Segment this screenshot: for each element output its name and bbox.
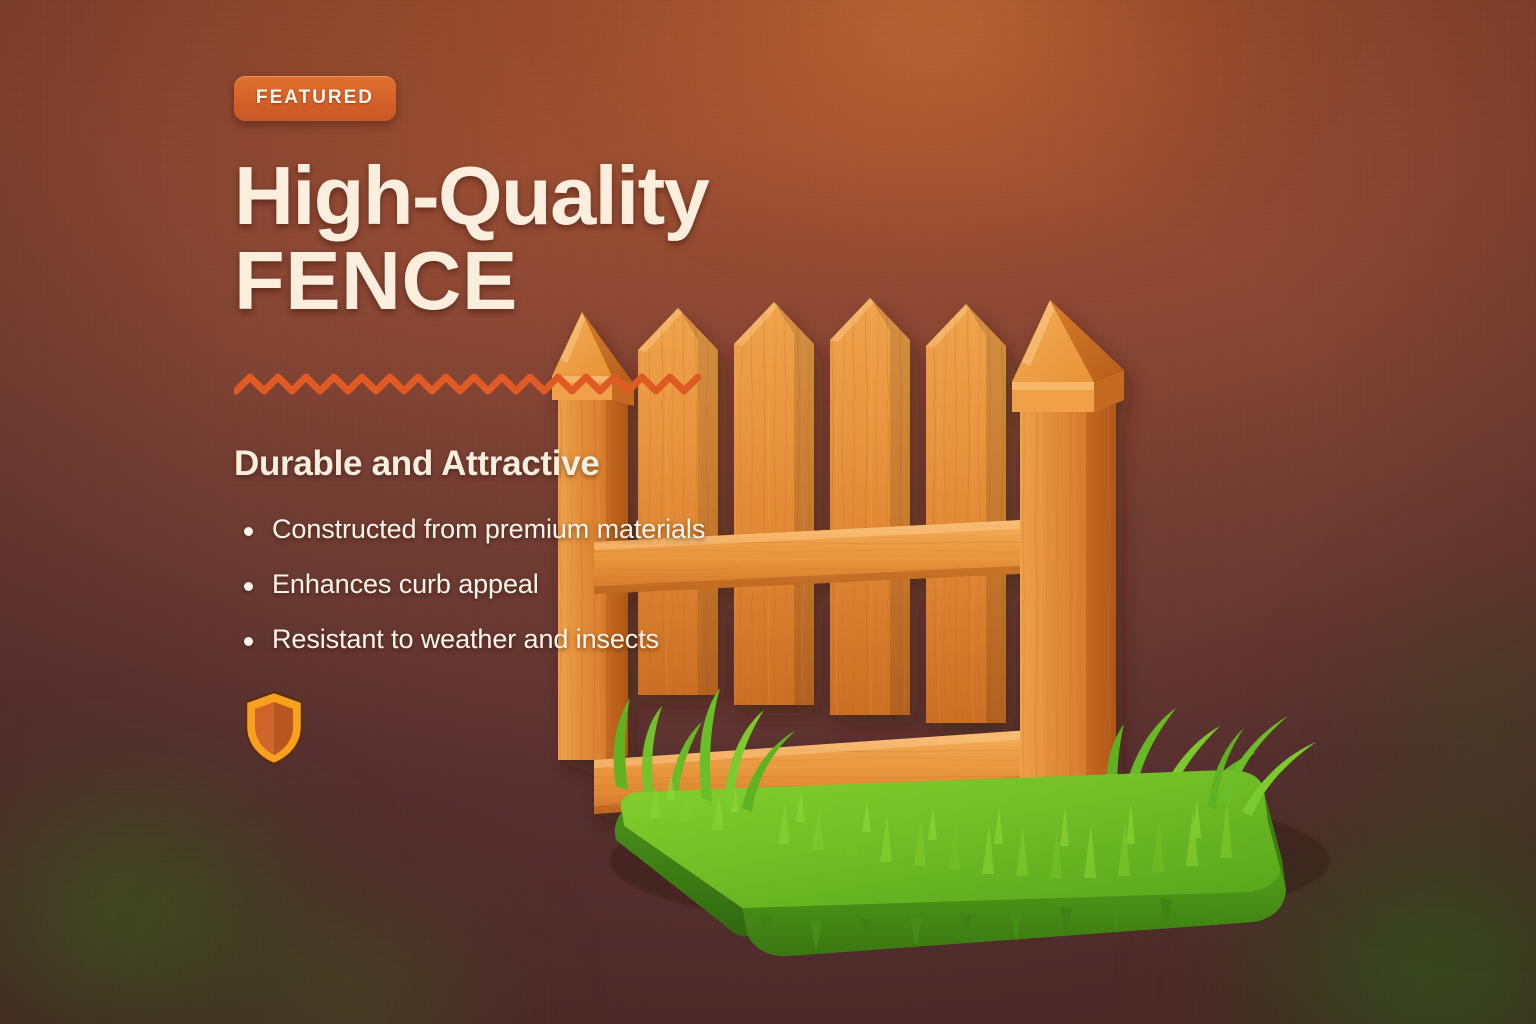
background-bokeh-green-left-lower [186,880,516,1024]
shield-icon [242,689,306,767]
headline-group: High-Quality FENCE [234,155,794,325]
list-item-label: Enhances curb appeal [272,569,539,599]
banner-canvas: FEATURED High-Quality FENCE Durable and … [0,0,1536,1024]
trust-badge [242,689,794,772]
list-item: Enhances curb appeal [234,569,794,600]
zigzag-divider-icon [234,369,704,399]
bullet-dot-icon [244,582,253,591]
headline-line-1: High-Quality [234,155,794,237]
fence-post-right [1012,300,1124,830]
list-item-label: Resistant to weather and insects [272,624,659,654]
feature-list: Constructed from premium materials Enhan… [234,514,794,655]
list-item-label: Constructed from premium materials [272,514,705,544]
list-item: Constructed from premium materials [234,514,794,545]
picket-4 [926,304,1006,723]
list-item: Resistant to weather and insects [234,624,794,655]
bullet-dot-icon [244,637,253,646]
headline-line-2: FENCE [234,237,794,325]
subheading: Durable and Attractive [234,444,794,484]
background-bokeh-green-left [0,756,340,1024]
picket-3 [830,298,910,715]
content-panel: FEATURED High-Quality FENCE Durable and … [234,76,794,772]
featured-badge[interactable]: FEATURED [234,76,396,121]
bullet-dot-icon [244,527,253,536]
